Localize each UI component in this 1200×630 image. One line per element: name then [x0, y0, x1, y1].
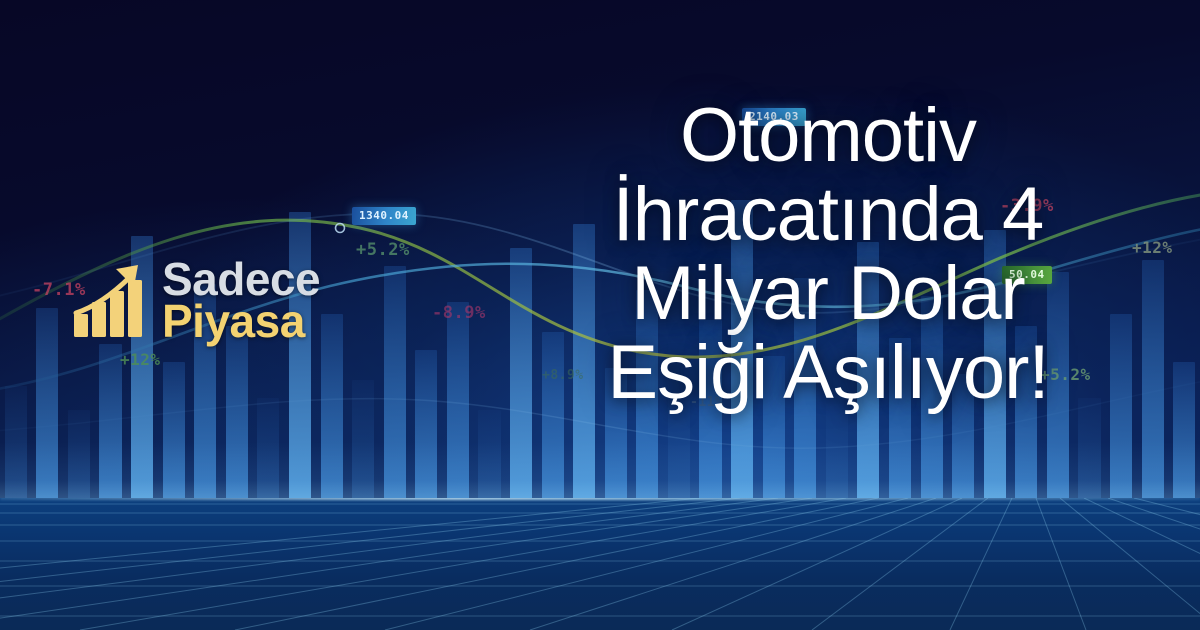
perspective-floor-grid — [0, 498, 1200, 630]
brand-name-bottom: Piyasa — [162, 300, 320, 342]
brand-logo[interactable]: Sadece Piyasa — [72, 258, 320, 343]
headline-line-2: İhracatında 4 — [498, 175, 1158, 254]
headline-block: Otomotiv İhracatında 4 Milyar Dolar Eşiğ… — [498, 96, 1158, 412]
percent-label-plus12-a: +12% — [120, 350, 161, 369]
floor-grid-lines — [0, 498, 1200, 630]
headline-line-4: Eşiği Aşılıyor! — [498, 333, 1158, 412]
social-share-banner: 2140.03 1340.04 50.04 -7.1% +12% +5.2% -… — [0, 0, 1200, 630]
percent-label-plus52-a: +5.2% — [356, 240, 410, 260]
headline-line-3: Milyar Dolar — [498, 254, 1158, 333]
brand-name-top: Sadece — [162, 258, 320, 300]
bar-chart-up-arrow-icon — [72, 261, 154, 339]
headline-line-1: Otomotiv — [498, 96, 1158, 175]
percent-label-minus89: -8.9% — [432, 303, 486, 323]
brand-wordmark: Sadece Piyasa — [162, 258, 320, 343]
price-badge-1340: 1340.04 — [352, 207, 416, 225]
